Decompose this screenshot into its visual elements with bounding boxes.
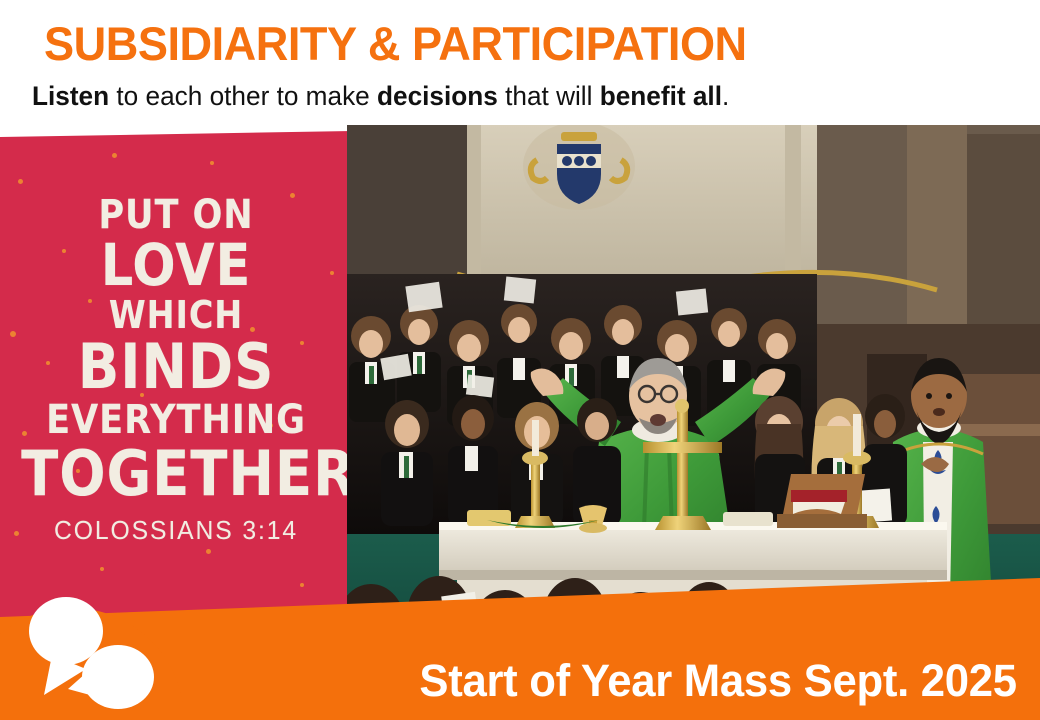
subtitle-word-benefit-all: benefit all (600, 81, 722, 111)
banner-caption: Start of Year Mass Sept. 2025 (31, 656, 1040, 706)
subtitle-text-2: that will (498, 81, 600, 111)
subtitle-text-1: to each other to make (109, 81, 377, 111)
subtitle: Listen to each other to make decisions t… (32, 80, 729, 112)
quote-line-4: BINDS (21, 337, 331, 397)
slide-canvas: SUBSIDIARITY & PARTICIPATION Listen to e… (0, 0, 1040, 720)
page-title: SUBSIDIARITY & PARTICIPATION (44, 18, 747, 70)
quote-line-2: LOVE (21, 237, 331, 293)
scripture-reference: COLOSSIANS 3:14 (9, 515, 343, 546)
subtitle-period: . (722, 81, 729, 111)
quote-line-6: TOGETHER (21, 443, 331, 505)
lectern-with-book (777, 474, 867, 528)
subtitle-word-listen: Listen (32, 81, 109, 111)
coat-of-arms (523, 124, 635, 210)
header-band: SUBSIDIARITY & PARTICIPATION Listen to e… (0, 0, 1040, 125)
subtitle-word-decisions: decisions (377, 81, 498, 111)
scripture-quote: PUT ON LOVE WHICH BINDS EVERYTHING TOGET… (0, 193, 352, 546)
